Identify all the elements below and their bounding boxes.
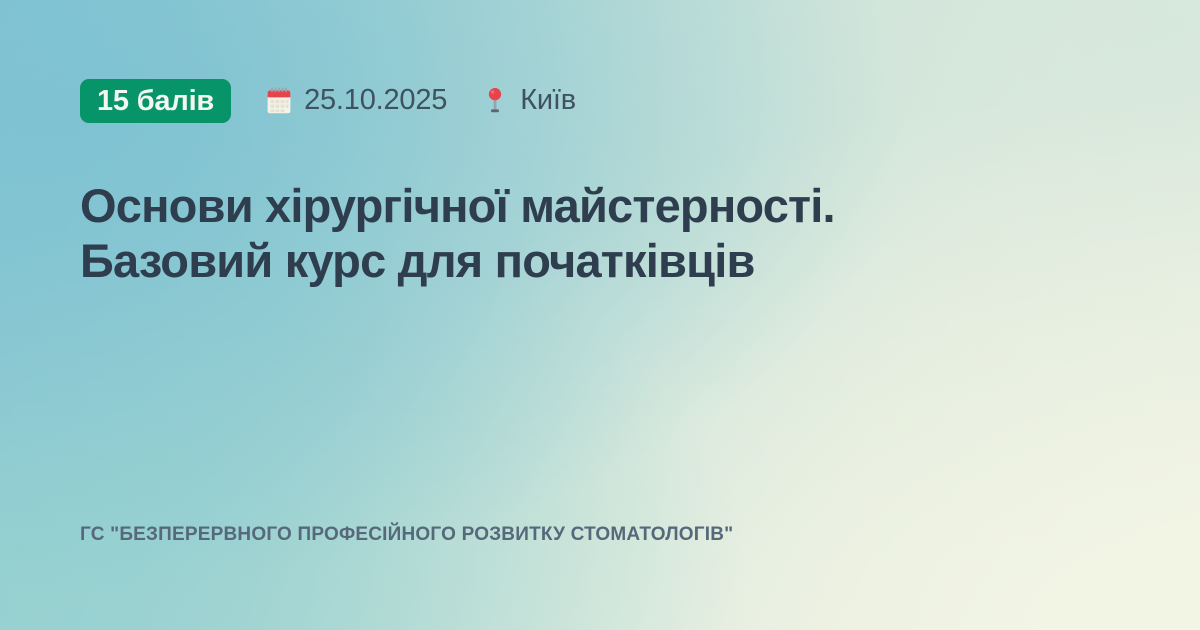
event-card: 15 балів: [0, 0, 1200, 630]
page-title-line-1: Основи хірургічної майстерності.: [80, 178, 1100, 233]
page-title: Основи хірургічної майстерності. Базовий…: [80, 178, 1100, 289]
event-location: Київ: [481, 86, 576, 117]
page-title-line-2: Базовий курс для початківців: [80, 233, 1100, 288]
map-pin-icon: [481, 86, 509, 116]
event-meta-row: 15 балів: [80, 78, 576, 124]
calendar-icon: [265, 86, 293, 116]
points-badge: 15 балів: [80, 79, 231, 123]
organizer-name: ГС "БЕЗПЕРЕРВНОГО ПРОФЕСІЙНОГО РОЗВИТКУ …: [80, 524, 733, 547]
event-date: 25.10.2025: [265, 86, 447, 117]
event-location-text: Київ: [520, 86, 576, 117]
event-date-text: 25.10.2025: [304, 86, 447, 117]
